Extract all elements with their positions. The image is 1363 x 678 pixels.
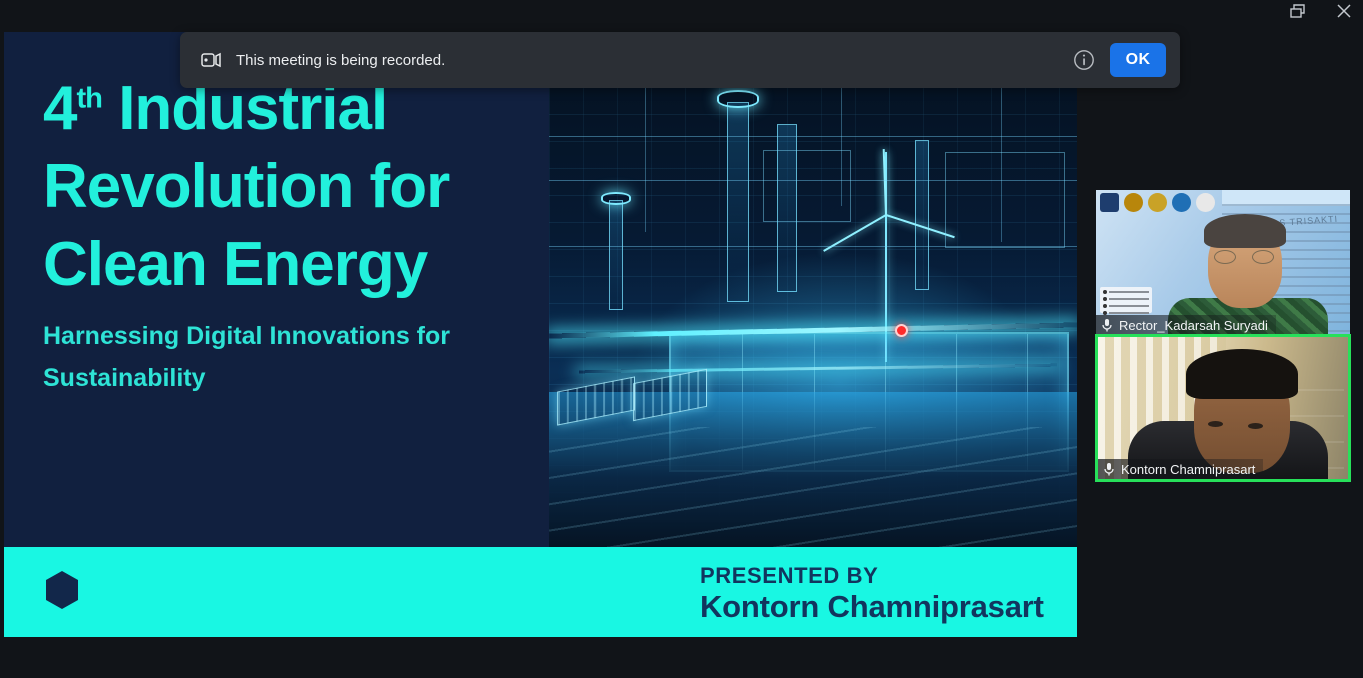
- participant-tile-kontorn[interactable]: Kontorn Chamniprasart: [1095, 334, 1351, 482]
- artwork-tower-cap-small: [601, 192, 631, 205]
- recording-notification-text: This meeting is being recorded.: [236, 52, 1072, 69]
- slide-title-rest: Industrial Revolution for Clean Energy: [43, 74, 449, 299]
- ok-button[interactable]: OK: [1110, 43, 1166, 77]
- badge-icon: [1196, 193, 1215, 212]
- participant-a-hair: [1204, 214, 1286, 248]
- slide-title: 4th Industrial Revolution for Clean Ener…: [43, 70, 513, 304]
- participant-a-name: Rector_Kadarsah Suryadi: [1119, 318, 1268, 333]
- close-window-icon[interactable]: [1329, 0, 1359, 18]
- artwork-tower-tall: [727, 102, 749, 302]
- microphone-icon: [1100, 317, 1114, 333]
- participant-a-name-badge: Rector_Kadarsah Suryadi: [1096, 315, 1276, 335]
- slide-artwork: [549, 32, 1077, 547]
- presented-by-label: PRESENTED BY: [700, 563, 878, 589]
- artwork-stack-right: [915, 140, 929, 290]
- badge-icon: [1172, 193, 1191, 212]
- artwork-overhead-wire-1: [549, 136, 1077, 137]
- red-pointer-dot: [895, 324, 908, 337]
- slide-text-panel: 4th Industrial Revolution for Clean Ener…: [4, 32, 549, 547]
- slide-title-number: 4: [43, 74, 76, 143]
- participant-b-name-badge: Kontorn Chamniprasart: [1098, 459, 1263, 479]
- participant-b-hair: [1186, 349, 1298, 399]
- badge-icon: [1100, 193, 1119, 212]
- shared-slide-stage: 4th Industrial Revolution for Clean Ener…: [4, 32, 1077, 637]
- restore-window-icon[interactable]: [1283, 0, 1313, 18]
- badge-icon: [1124, 193, 1143, 212]
- participant-b-eye-right: [1248, 423, 1263, 429]
- badge-icon: [1148, 193, 1167, 212]
- participant-tile-rector[interactable]: UNIVERSITAS TRISAKTI Rector_Kadarsah Sur…: [1096, 190, 1350, 335]
- artwork-floor-lines: [549, 427, 1077, 547]
- participant-a-overlay-chat: [1100, 287, 1152, 313]
- participant-a-glasses: [1214, 250, 1274, 264]
- window-controls-bar: [0, 0, 1363, 30]
- recording-notification: This meeting is being recorded. OK: [180, 32, 1180, 88]
- slide-subtitle: Harnessing Digital Innovations for Susta…: [43, 315, 513, 399]
- slide-footer-bar: PRESENTED BY Kontorn Chamniprasart: [4, 547, 1077, 637]
- hexagon-logo: [44, 570, 80, 610]
- slide-title-ordinal: th: [76, 82, 102, 114]
- presenter-name: Kontorn Chamniprasart: [700, 589, 1044, 625]
- microphone-icon: [1102, 461, 1116, 477]
- screen-record-icon: [200, 49, 222, 71]
- artwork-structure-outline-1: [945, 152, 1065, 248]
- participant-a-logo-badges: [1100, 193, 1215, 212]
- participant-b-name: Kontorn Chamniprasart: [1121, 462, 1255, 477]
- participant-b-eye-left: [1208, 421, 1223, 427]
- artwork-tower-cap: [717, 90, 759, 108]
- info-circle-icon[interactable]: [1072, 48, 1096, 72]
- artwork-tower-small: [609, 200, 623, 310]
- meeting-screen-share-window: 4th Industrial Revolution for Clean Ener…: [0, 0, 1363, 678]
- artwork-structure-outline-2: [763, 150, 851, 222]
